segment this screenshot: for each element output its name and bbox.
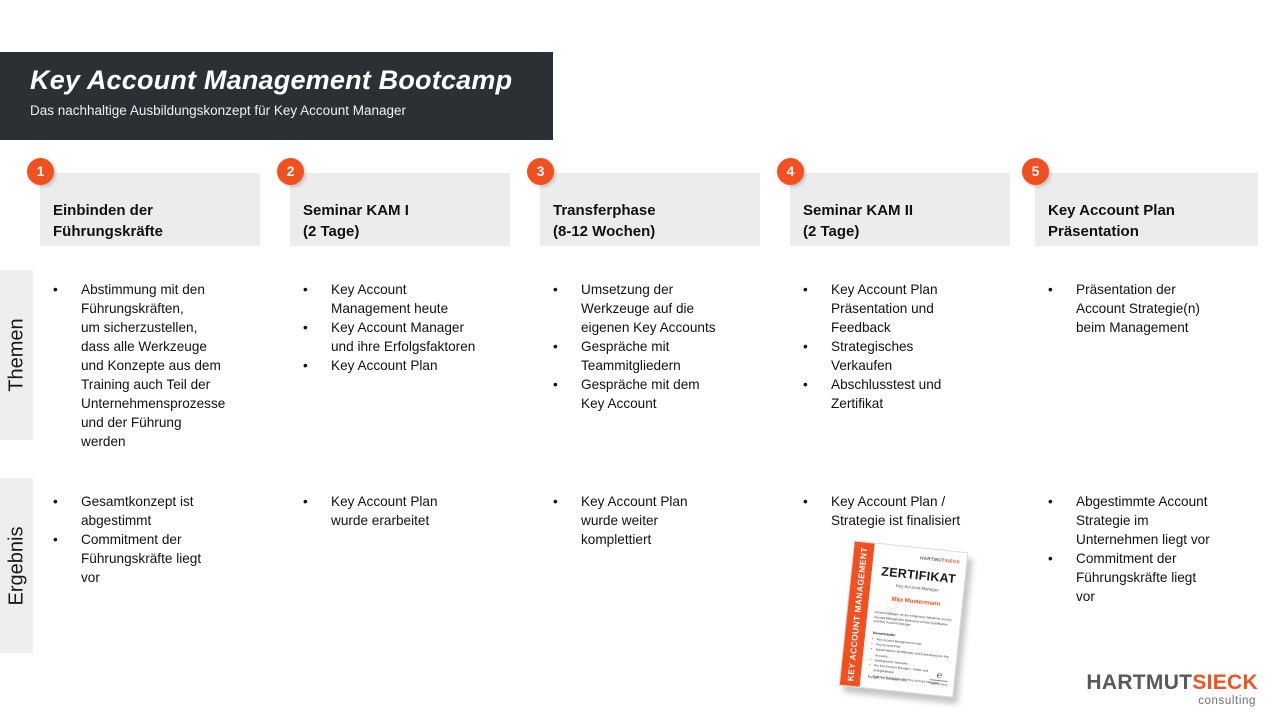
ergebnis-list-3: • Key Account Plan wurde weiter komplett… xyxy=(553,492,765,549)
row-label-themen: Themen xyxy=(0,270,33,440)
certificate-logo-accent: SIECK xyxy=(945,558,961,565)
ergebnis-list-2: • Key Account Plan wurde erarbeitet xyxy=(303,492,515,530)
phase-column-3: 3 Transferphase (8-12 Wochen) • Umsetzun… xyxy=(540,0,760,720)
list-item-text: Abstimmung mit den Führungskräften, um s… xyxy=(81,280,265,451)
row-label-ergebnis-text: Ergebnis xyxy=(5,526,28,605)
list-item: • Key Account Plan / Strategie ist final… xyxy=(803,492,1015,530)
bullet-icon: • xyxy=(1048,549,1076,568)
list-item-text: Key Account Plan Präsentation und Feedba… xyxy=(831,280,1015,337)
list-item-text: Abschlusstest und Zertifikat xyxy=(831,375,1015,413)
phase-number-badge-2: 2 xyxy=(277,158,304,185)
phase-column-2: 2 Seminar KAM I (2 Tage) • Key Account M… xyxy=(290,0,510,720)
list-item-text: Strategisches Verkaufen xyxy=(831,337,1015,375)
certificate-recipient-name: Max Mustermann xyxy=(876,595,956,609)
brand-tagline: consulting xyxy=(1086,696,1256,708)
bullet-icon: • xyxy=(1048,280,1076,299)
certificate-signature-place: Stuttgart, 31. Dezember 2021 xyxy=(868,675,908,683)
phase-header-4[interactable]: 4 Seminar KAM II (2 Tage) xyxy=(790,173,1010,246)
row-label-themen-text: Themen xyxy=(5,318,28,391)
brand-logo: HARTMUTSIECK consulting xyxy=(1086,672,1258,708)
certificate-body: KAM HARTMUTSIECK ZERTIFIKAT Key Account … xyxy=(860,544,968,697)
list-item-text: Gespräche mit dem Key Account xyxy=(581,375,765,413)
list-item-text: Abgestimmte Account Strategie im Unterne… xyxy=(1076,492,1260,549)
certificate-logo: HARTMUTSIECK xyxy=(880,551,960,564)
list-item: • Key Account Plan xyxy=(303,356,515,375)
certificate-logo-main: HARTMUT xyxy=(920,555,945,563)
brand-name-row: HARTMUTSIECK xyxy=(1086,672,1258,693)
bullet-icon: • xyxy=(303,280,331,299)
phase-title-4: Seminar KAM II (2 Tage) xyxy=(803,200,1010,243)
slide-canvas: Key Account Management Bootcamp Das nach… xyxy=(0,0,1280,720)
list-item: • Key Account Plan wurde weiter komplett… xyxy=(553,492,765,549)
themen-list-1: • Abstimmung mit den Führungskräften, um… xyxy=(53,280,265,451)
list-item: • Gespräche mit dem Key Account xyxy=(553,375,765,413)
brand-name-main: HARTMUT xyxy=(1086,671,1192,694)
bullet-icon: • xyxy=(53,530,81,549)
list-item: • Abschlusstest und Zertifikat xyxy=(803,375,1015,413)
list-item: • Abgestimmte Account Strategie im Unter… xyxy=(1048,492,1260,549)
phase-column-1: 1 Einbinden der Führungskräfte • Abstimm… xyxy=(40,0,260,720)
bullet-icon: • xyxy=(53,280,81,299)
themen-list-2: • Key Account Management heute • Key Acc… xyxy=(303,280,515,375)
certificate-signature-right: ℮ Hartmut Sieck xyxy=(930,670,949,687)
list-item-text: Key Account Management heute xyxy=(331,280,515,318)
ergebnis-list-1: • Gesamtkonzept ist abgestimmt • Commitm… xyxy=(53,492,265,587)
phase-column-5: 5 Key Account Plan Präsentation • Präsen… xyxy=(1035,0,1258,720)
ergebnis-list-5: • Abgestimmte Account Strategie im Unter… xyxy=(1048,492,1260,606)
bullet-icon: • xyxy=(1048,492,1076,511)
list-item-text: Commitment der Führungskräfte liegt vor xyxy=(1076,549,1260,606)
list-item: • Gespräche mit Teammitgliedern xyxy=(553,337,765,375)
bullet-icon: • xyxy=(303,492,331,511)
list-item-text: Präsentation der Account Strategie(n) be… xyxy=(1076,280,1260,337)
phase-title-3: Transferphase (8-12 Wochen) xyxy=(553,200,760,243)
list-item: • Key Account Management heute xyxy=(303,280,515,318)
list-item: • Umsetzung der Werkzeuge auf die eigene… xyxy=(553,280,765,337)
list-item-text: Key Account Manager und ihre Erfolgsfakt… xyxy=(331,318,515,356)
phase-header-5[interactable]: 5 Key Account Plan Präsentation xyxy=(1035,173,1258,246)
bullet-icon: • xyxy=(803,375,831,394)
bullet-icon: • xyxy=(803,280,831,299)
themen-list-5: • Präsentation der Account Strategie(n) … xyxy=(1048,280,1260,337)
list-item-text: Umsetzung der Werkzeuge auf die eigenen … xyxy=(581,280,765,337)
list-item: • Commitment der Führungskräfte liegt vo… xyxy=(53,530,265,587)
bullet-icon: • xyxy=(303,356,331,375)
list-item: • Key Account Manager und ihre Erfolgsfa… xyxy=(303,318,515,356)
ergebnis-list-4: • Key Account Plan / Strategie ist final… xyxy=(803,492,1015,530)
list-item: • Commitment der Führungskräfte liegt vo… xyxy=(1048,549,1260,606)
bullet-icon: • xyxy=(553,337,581,356)
list-item: • Präsentation der Account Strategie(n) … xyxy=(1048,280,1260,337)
list-item: • Abstimmung mit den Führungskräften, um… xyxy=(53,280,265,451)
certificate-signature-name: Hartmut Sieck xyxy=(930,679,948,687)
phase-title-5: Key Account Plan Präsentation xyxy=(1048,200,1258,243)
bullet-icon: • xyxy=(303,318,331,337)
list-item: • Key Account Plan wurde erarbeitet xyxy=(303,492,515,530)
phase-number-badge-3: 3 xyxy=(527,158,554,185)
list-item-text: Gespräche mit Teammitgliedern xyxy=(581,337,765,375)
phase-number-badge-1: 1 xyxy=(27,158,54,185)
bullet-icon: • xyxy=(553,492,581,511)
bullet-icon: • xyxy=(553,375,581,394)
bullet-icon: • xyxy=(803,337,831,356)
bullet-icon: • xyxy=(53,492,81,511)
list-item-text: Key Account Plan wurde weiter komplettie… xyxy=(581,492,765,549)
phase-title-1: Einbinden der Führungskräfte xyxy=(53,200,260,243)
phase-header-3[interactable]: 3 Transferphase (8-12 Wochen) xyxy=(540,173,760,246)
themen-list-3: • Umsetzung der Werkzeuge auf die eigene… xyxy=(553,280,765,413)
phase-header-1[interactable]: 1 Einbinden der Führungskräfte xyxy=(40,173,260,246)
row-label-ergebnis: Ergebnis xyxy=(0,478,33,653)
certificate-paragraph: hiermit bestätigen wir die erfolgreiche … xyxy=(873,610,954,632)
brand-name-accent: SIECK xyxy=(1192,671,1258,694)
certificate-image: KEY ACCOUNT MANAGEMENT KAM HARTMUTSIECK … xyxy=(839,540,969,697)
bullet-icon: • xyxy=(553,280,581,299)
list-item: • Gesamtkonzept ist abgestimmt xyxy=(53,492,265,530)
list-item-text: Key Account Plan wurde erarbeitet xyxy=(331,492,515,530)
list-item: • Key Account Plan Präsentation und Feed… xyxy=(803,280,1015,337)
phase-title-2: Seminar KAM I (2 Tage) xyxy=(303,200,510,243)
phase-number-badge-4: 4 xyxy=(777,158,804,185)
list-item-text: Key Account Plan xyxy=(331,356,515,375)
certificate-card: KEY ACCOUNT MANAGEMENT KAM HARTMUTSIECK … xyxy=(839,540,969,697)
list-item: • Strategisches Verkaufen xyxy=(803,337,1015,375)
list-item-text: Key Account Plan / Strategie ist finalis… xyxy=(831,492,1015,530)
phase-number-badge-5: 5 xyxy=(1022,158,1049,185)
themen-list-4: • Key Account Plan Präsentation und Feed… xyxy=(803,280,1015,413)
list-item-text: Gesamtkonzept ist abgestimmt xyxy=(81,492,265,530)
phase-header-2[interactable]: 2 Seminar KAM I (2 Tage) xyxy=(290,173,510,246)
bullet-icon: • xyxy=(803,492,831,511)
list-item-text: Commitment der Führungskräfte liegt vor xyxy=(81,530,265,587)
